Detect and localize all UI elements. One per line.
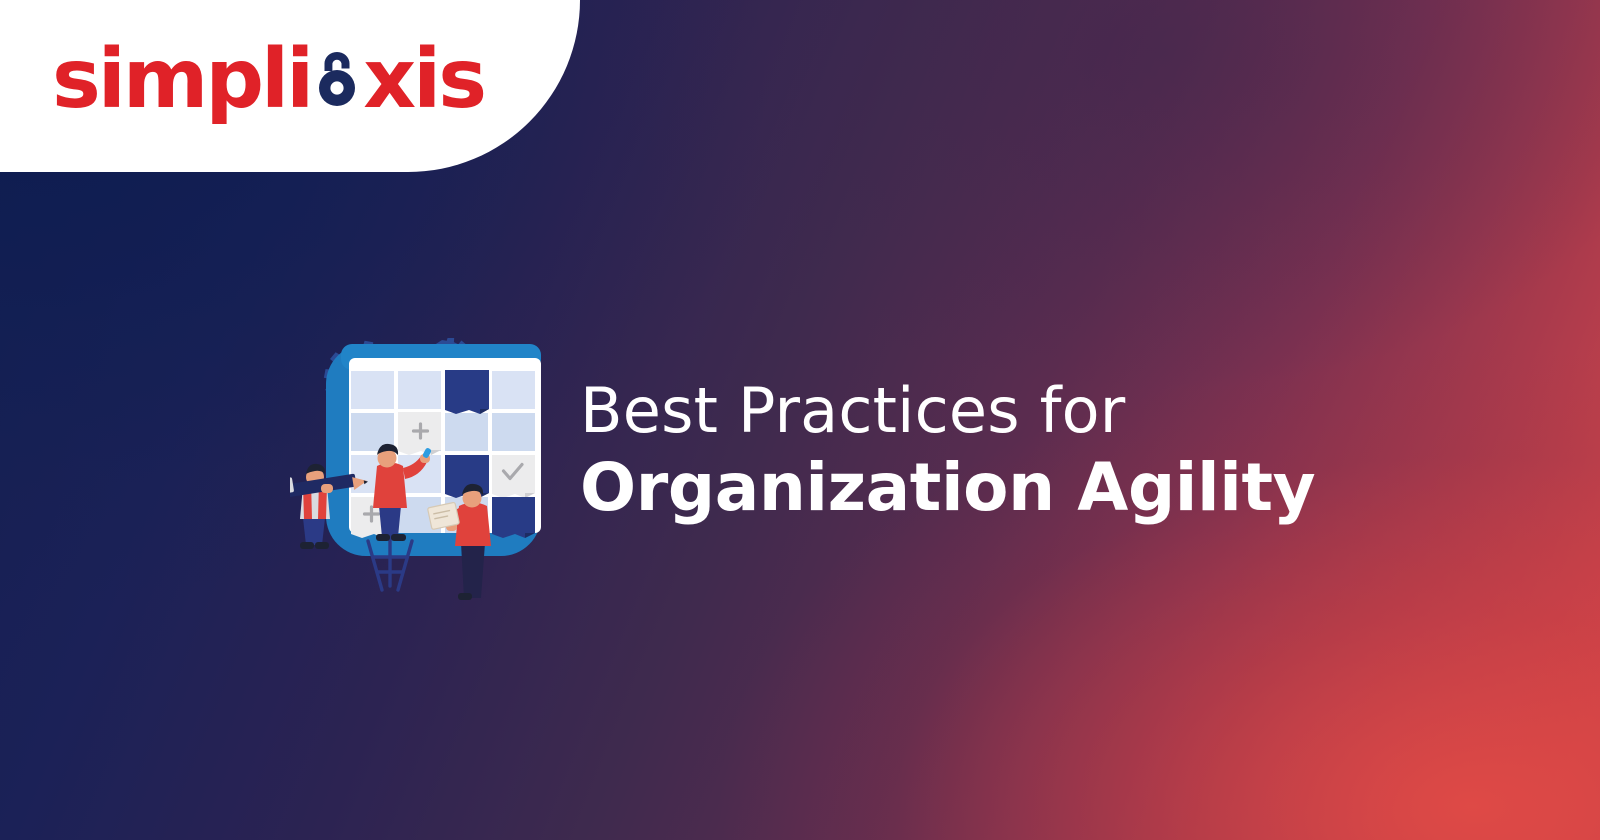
- brand-logo-text: simpli xis: [52, 39, 484, 121]
- brand-logo-part2: xis: [363, 39, 484, 121]
- agile-team-illustration: [290, 338, 580, 610]
- sticky-note-check: [492, 455, 535, 498]
- promo-banner: simpli xis: [0, 0, 1600, 840]
- headline-line-1: Best Practices for: [580, 378, 1420, 445]
- brand-logo-part1: simpli: [52, 39, 311, 121]
- logo-panel: simpli xis: [0, 0, 580, 172]
- headline-line-2: Organization Agility: [580, 451, 1420, 525]
- a-monogram-icon: [309, 48, 365, 110]
- sticky-note-navy-top: [445, 370, 489, 414]
- sticky-note-plus-upper: [398, 412, 441, 455]
- sticky-note-navy-bottom: [492, 497, 535, 538]
- brand-logo[interactable]: simpli xis: [52, 32, 484, 128]
- headline-block: Best Practices for Organization Agility: [580, 378, 1420, 525]
